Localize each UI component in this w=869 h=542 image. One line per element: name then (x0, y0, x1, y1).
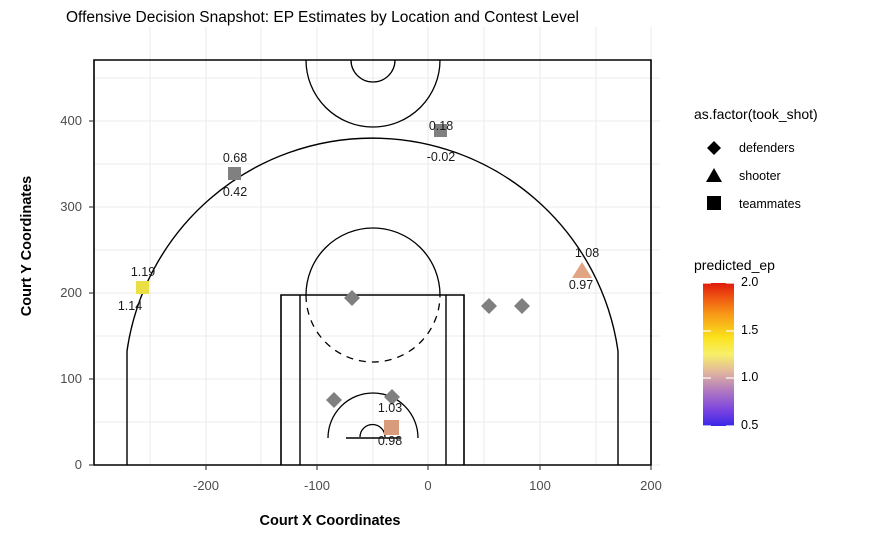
x-tick-label-4: 200 (621, 478, 681, 493)
point-label-above-5: 1.03 (360, 401, 420, 415)
y-tick-label-3: 300 (32, 199, 82, 215)
legend-triangle-icon (706, 168, 722, 182)
point-label-below-2: -0.02 (411, 150, 471, 164)
color-legend-title: predicted_ep (694, 257, 775, 273)
marker-teammate-3[interactable] (136, 281, 149, 294)
legend-square-icon (707, 196, 721, 210)
point-label-above-2: 0.18 (411, 119, 471, 133)
y-tick-label-1: 100 (32, 371, 82, 387)
x-tick-label-1: -100 (287, 478, 347, 493)
colorbar-gradient (703, 283, 734, 426)
point-label-above-1: 0.68 (205, 151, 265, 165)
shape-legend-item-shooter[interactable]: shooter (739, 169, 781, 183)
point-label-above-4: 1.08 (557, 246, 617, 260)
marker-teammate-4[interactable] (384, 420, 399, 435)
x-tick-label-3: 100 (510, 478, 570, 493)
colorbar-tick-label-0: 2.0 (741, 275, 758, 289)
page-title: Offensive Decision Snapshot: EP Estimate… (66, 9, 579, 27)
y-tick-label-2: 200 (32, 285, 82, 301)
legend-diamond-icon (707, 141, 721, 155)
point-label-below-5: 0.98 (360, 434, 420, 448)
y-axis-title: Court Y Coordinates (19, 96, 35, 396)
colorbar-tick-label-3: 0.5 (741, 418, 758, 432)
colorbar-tick-label-2: 1.0 (741, 370, 758, 384)
shape-legend-item-defenders[interactable]: defenders (739, 141, 795, 155)
x-tick-label-2: 0 (398, 478, 458, 493)
colorbar-tick-label-1: 1.5 (741, 323, 758, 337)
y-tick-label-0: 0 (32, 457, 82, 473)
shape-legend-item-teammates[interactable]: teammates (739, 197, 801, 211)
x-tick-label-0: -200 (176, 478, 236, 493)
marker-teammate-1[interactable] (228, 167, 241, 180)
x-axis-title: Court X Coordinates (0, 513, 660, 529)
point-label-below-3: 1.14 (100, 299, 160, 313)
shape-legend-title: as.factor(took_shot) (694, 106, 818, 122)
point-label-above-3: 1.19 (113, 265, 173, 279)
point-label-below-4: 0.97 (551, 278, 611, 292)
y-tick-label-4: 400 (32, 113, 82, 129)
point-label-below-1: 0.42 (205, 185, 265, 199)
